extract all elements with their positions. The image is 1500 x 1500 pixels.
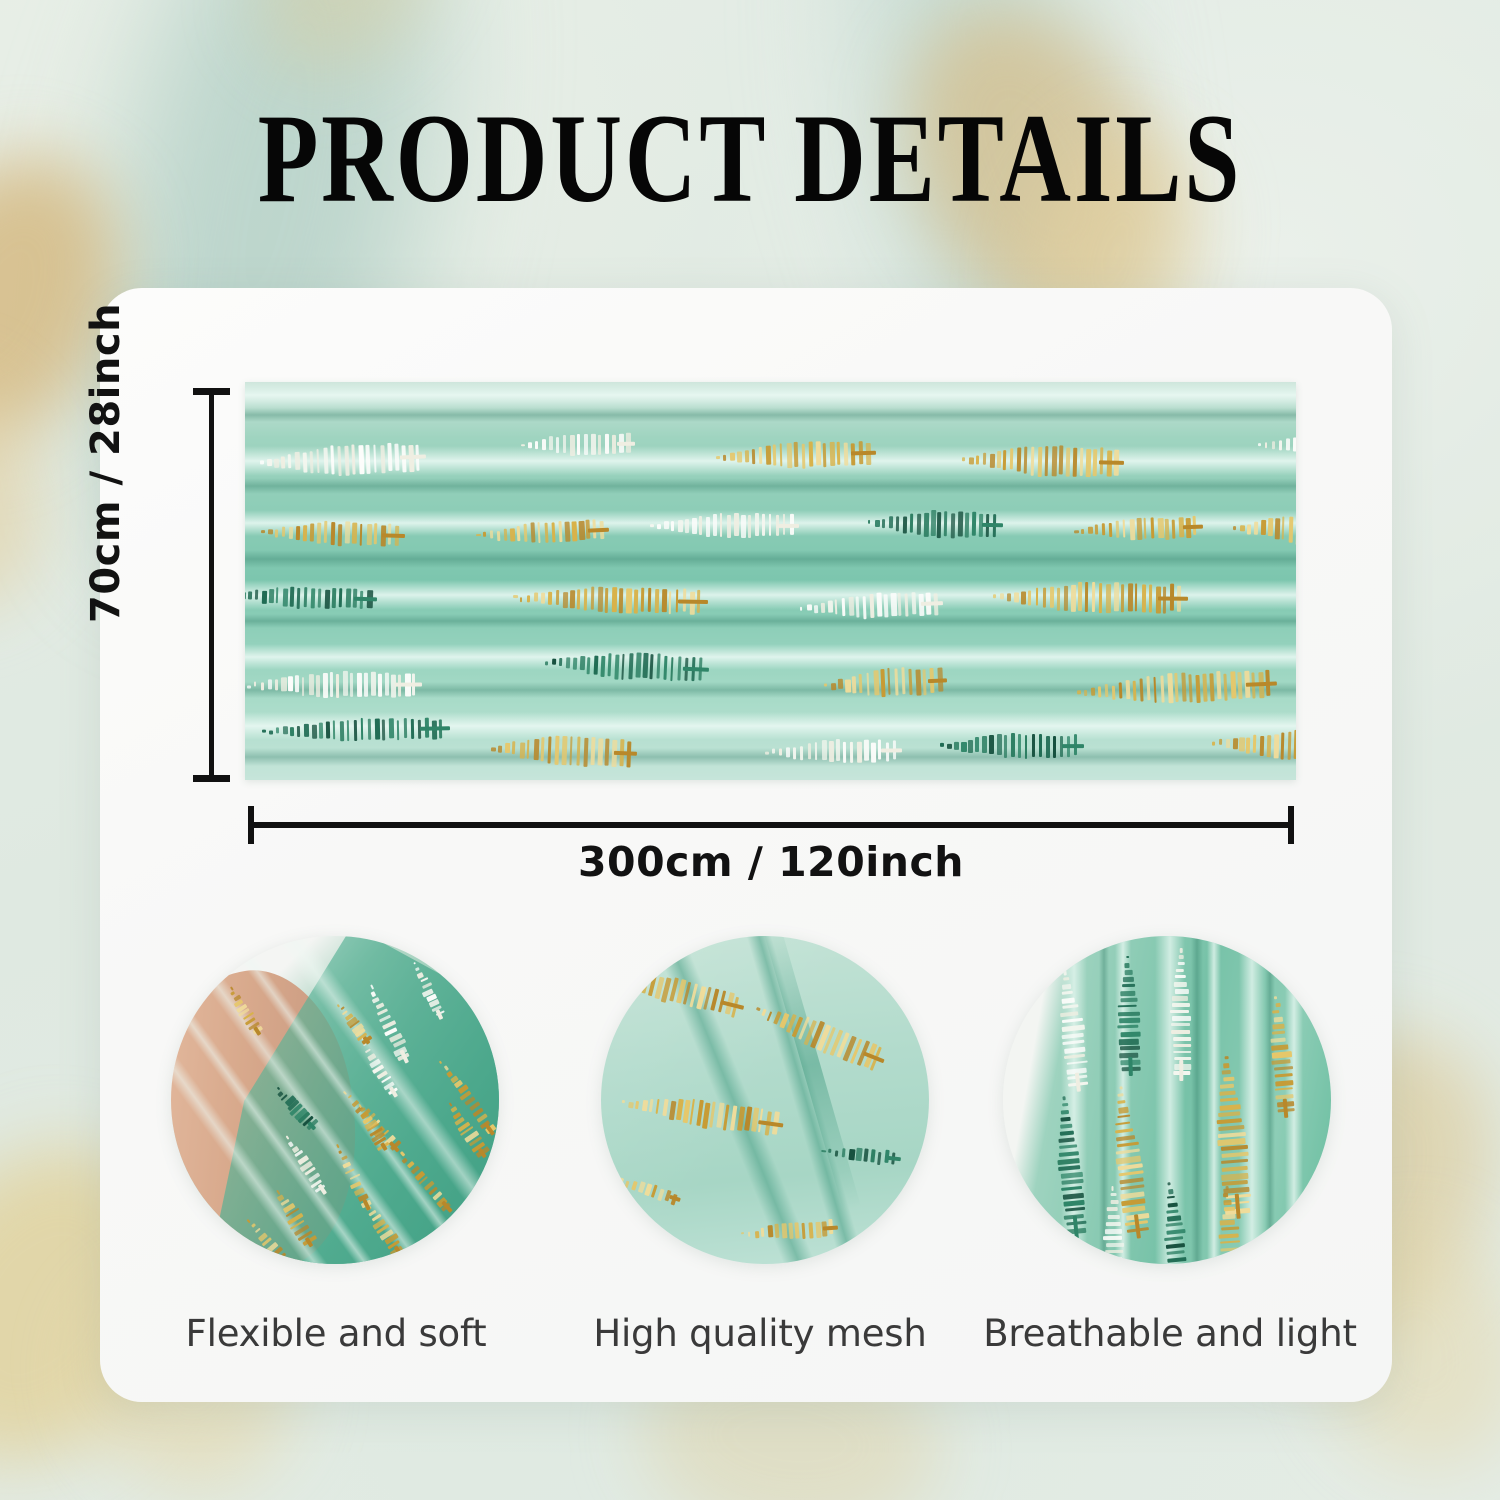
tree-motif	[1105, 955, 1153, 1074]
fabric-swatch-image	[245, 382, 1296, 780]
tree-motif	[1073, 504, 1201, 553]
tree-motif	[544, 635, 707, 696]
feature-caption-3: Breathable and light	[955, 1312, 1385, 1355]
tree-motif	[1211, 713, 1296, 779]
tree-motif	[740, 1211, 837, 1252]
width-dimension-label: 300cm / 120inch	[250, 838, 1292, 886]
feature-caption-2: High quality mesh	[545, 1312, 975, 1355]
feature-caption-1: Flexible and soft	[121, 1312, 551, 1355]
width-dimension-line	[250, 822, 1292, 828]
tree-motif	[867, 496, 1000, 552]
tree-motifs	[171, 936, 499, 1264]
height-dimension-label: 70cm / 28inch	[83, 383, 129, 623]
tree-motif	[262, 707, 447, 755]
tree-motif	[259, 426, 425, 495]
tree-motif	[1206, 1185, 1255, 1264]
height-dimension-line	[209, 390, 214, 780]
feature-image-flexible-and-soft	[171, 936, 499, 1264]
tree-motif	[993, 567, 1185, 631]
tree-motif	[823, 651, 946, 714]
gold-tree-motifs	[601, 936, 929, 1264]
tree-motif	[247, 658, 419, 711]
tree-motif	[405, 958, 451, 1024]
tree-motif	[1161, 948, 1202, 1078]
tree-motif	[245, 574, 375, 621]
tree-motif	[512, 572, 704, 628]
vertical-tree-motifs	[1003, 936, 1331, 1264]
height-dimension-cap-bottom	[193, 775, 230, 782]
tree-motif	[609, 1166, 684, 1212]
tree-motif	[1232, 499, 1296, 563]
height-dimension-cap-top	[193, 388, 230, 395]
tree-motif	[765, 728, 900, 774]
fabric-tree-motifs	[245, 382, 1296, 780]
tree-motif	[261, 508, 403, 559]
tree-motif	[940, 721, 1081, 771]
tree-motif	[475, 508, 608, 558]
tree-motif	[521, 421, 633, 466]
gold-blob	[0, 363, 65, 627]
tree-motif	[799, 579, 941, 635]
tree-motif	[1042, 968, 1101, 1092]
tree-motif	[618, 1075, 784, 1152]
tree-motif	[1258, 417, 1296, 475]
tree-motif	[715, 427, 873, 483]
product-details-page: PRODUCT DETAILS 70cm / 28inch 300cm / 12…	[0, 0, 1500, 1500]
tree-motif	[650, 501, 797, 550]
tree-motif	[490, 718, 635, 780]
tree-motif	[1040, 1094, 1099, 1238]
tree-motif	[1094, 1186, 1133, 1264]
tree-motif	[962, 428, 1122, 493]
feature-image-breathable-and-light	[1003, 936, 1331, 1264]
page-title: PRODUCT DETAILS	[60, 96, 1440, 223]
feature-image-high-quality-mesh	[601, 936, 929, 1264]
